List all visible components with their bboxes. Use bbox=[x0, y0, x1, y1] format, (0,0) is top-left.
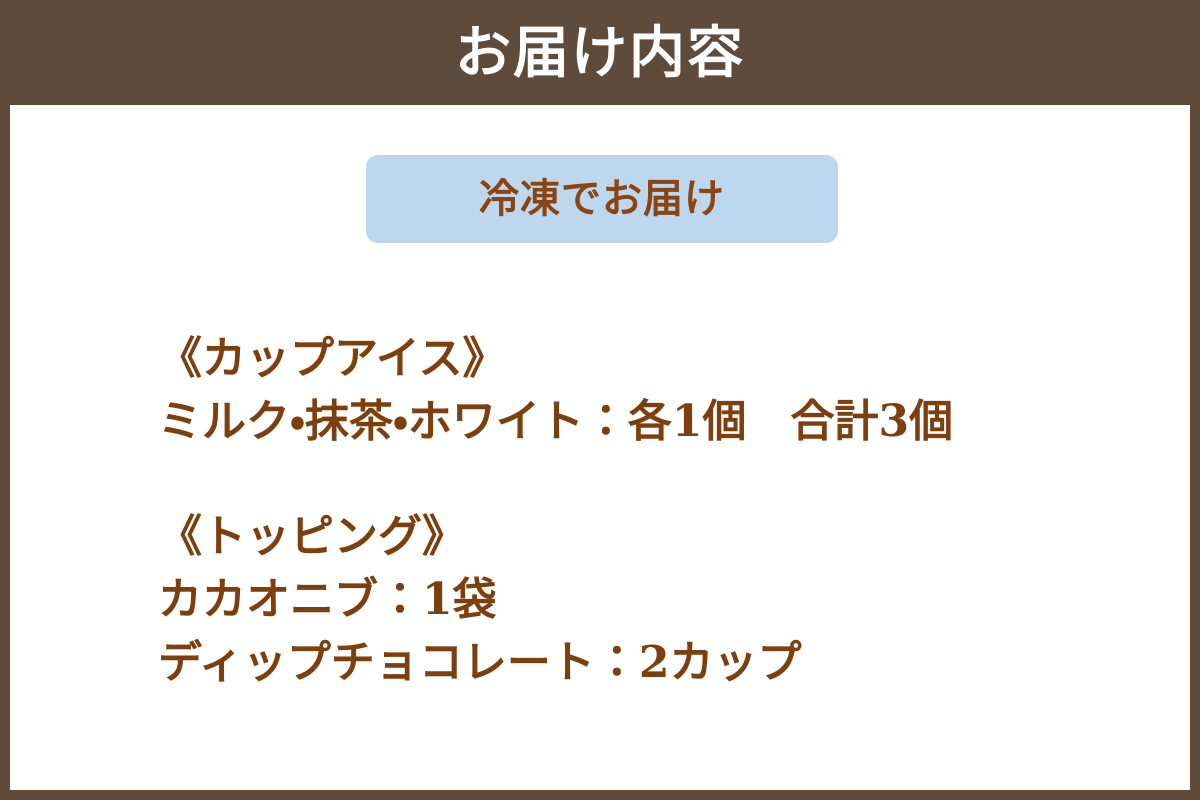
item-group-topping: 《トッピング》 カカオニブ：1袋 ディップチョコレート：2カップ bbox=[158, 505, 1138, 694]
item-line: ディップチョコレート：2カップ bbox=[158, 631, 1138, 694]
item-list: 《カップアイス》 ミルク・抹茶・ホワイト：各1個 合計3個 《トッピング》 カカ… bbox=[158, 327, 1138, 694]
item-group-lines: ミルク・抹茶・ホワイト：各1個 合計3個 bbox=[158, 390, 1138, 453]
item-group-lines: カカオニブ：1袋 ディップチョコレート：2カップ bbox=[158, 568, 1138, 694]
item-group-heading: 《カップアイス》 bbox=[158, 327, 1138, 390]
shipping-badge-label: 冷凍でお届け bbox=[479, 179, 725, 219]
item-group-heading: 《トッピング》 bbox=[158, 505, 1138, 568]
content-panel: 冷凍でお届け 《カップアイス》 ミルク・抹茶・ホワイト：各1個 合計3個 《トッ… bbox=[10, 105, 1190, 790]
header-band: お届け内容 bbox=[0, 0, 1200, 105]
item-line: カカオニブ：1袋 bbox=[158, 568, 1138, 631]
shipping-badge: 冷凍でお届け bbox=[366, 155, 838, 243]
item-line: ミルク・抹茶・ホワイト：各1個 合計3個 bbox=[158, 390, 1138, 453]
promo-panel: お届け内容 冷凍でお届け 《カップアイス》 ミルク・抹茶・ホワイト：各1個 合計… bbox=[0, 0, 1200, 800]
item-group-cup-ice: 《カップアイス》 ミルク・抹茶・ホワイト：各1個 合計3個 bbox=[158, 327, 1138, 453]
page-title: お届け内容 bbox=[455, 25, 745, 81]
